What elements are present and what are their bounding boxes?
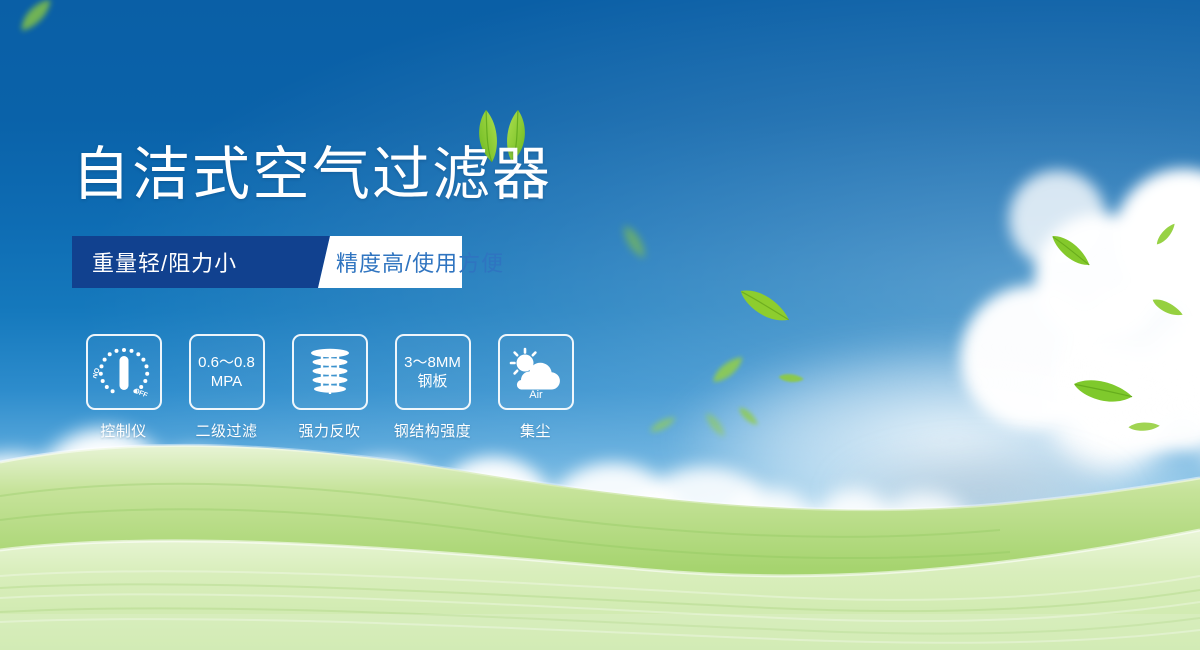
feature-list: NO OFF 控制仪 0.6～0.8 MPA 二级过滤	[72, 334, 587, 441]
page-title: 自洁式空气过滤器	[72, 146, 552, 204]
air-label: Air	[529, 389, 543, 400]
feature-label: 集尘	[520, 420, 551, 441]
feature-icon-box: NO OFF	[86, 334, 162, 410]
feature-icon-box: 3～8MM 钢板	[395, 334, 471, 410]
feature-label: 强力反吹	[298, 420, 360, 441]
feature-item-dust-collection[interactable]: Air 集尘	[484, 334, 587, 441]
feature-item-steel-strength[interactable]: 3～8MM 钢板 钢结构强度	[381, 334, 484, 441]
cloud-sun-air-icon: Air	[506, 344, 566, 400]
subtitle-right-text: 精度高/使用方便	[336, 236, 504, 288]
feature-label: 控制仪	[100, 420, 147, 441]
filter-cartridge-icon	[302, 344, 358, 400]
gauge-dial-icon: NO OFF	[93, 343, 155, 401]
feature-label: 钢结构强度	[394, 420, 472, 441]
feature-item-controller[interactable]: NO OFF 控制仪	[72, 334, 175, 441]
steel-plate-text: 钢板	[417, 372, 447, 391]
pressure-range-text: 0.6～0.8	[198, 353, 255, 372]
feature-label: 二级过滤	[195, 420, 257, 441]
hero-banner: 自洁式空气过滤器 重量轻/阻力小 精度高/使用方便	[0, 0, 1200, 650]
svg-text:OFF: OFF	[132, 388, 148, 400]
feature-item-two-stage-filter[interactable]: 0.6～0.8 MPA 二级过滤	[175, 334, 278, 441]
feature-icon-box	[292, 334, 368, 410]
subtitle-left-text: 重量轻/阻力小	[92, 236, 237, 288]
feature-icon-box: 0.6～0.8 MPA	[189, 334, 265, 410]
feature-item-reverse-blow[interactable]: 强力反吹	[278, 334, 381, 441]
subtitle-bar: 重量轻/阻力小 精度高/使用方便	[72, 236, 462, 288]
feature-icon-box: Air	[498, 334, 574, 410]
steel-thickness-text: 3～8MM	[404, 353, 461, 372]
pressure-unit-text: MPA	[211, 372, 242, 391]
